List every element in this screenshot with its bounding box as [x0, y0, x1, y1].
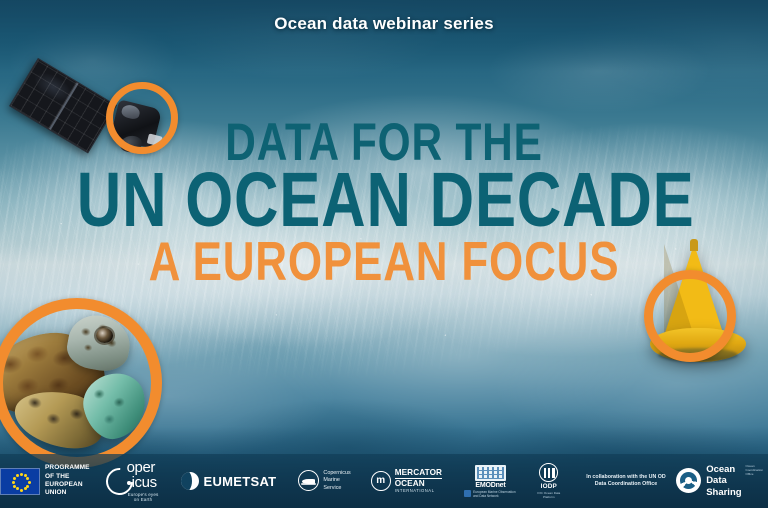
ocean-data-sharing-wordmark: Ocean Data Sharing	[706, 464, 742, 498]
logo-eumetsat: EUMETSAT	[181, 472, 276, 490]
ods-line2: Data Sharing	[706, 475, 742, 497]
eumetsat-globe-icon	[181, 472, 199, 490]
logo-ocean-data-sharing: In collaboration with the UN OD Data Coo…	[581, 464, 768, 498]
marine-service-line2: Marine Service	[323, 477, 350, 492]
eu-label-line2: EUROPEAN UNION	[45, 481, 90, 498]
collaboration-note: In collaboration with the UN OD Data Coo…	[581, 474, 671, 489]
iode-circle-icon	[539, 463, 558, 482]
eu-star-icon	[26, 485, 29, 488]
eu-star-icon	[24, 487, 27, 490]
logo-copernicus-marine-service: Copernicus Marine Service	[298, 470, 350, 492]
eu-label-line1: PROGRAMME OF THE	[45, 464, 90, 481]
title-line-3: A EUROPEAN FOCUS	[77, 236, 691, 288]
logo-mercator-ocean: m MERCATOR OCEAN INTERNATIONAL	[371, 468, 442, 493]
buoy-tip	[690, 239, 698, 251]
eu-star-icon	[20, 473, 23, 476]
series-kicker: Ocean data webinar series	[0, 14, 768, 34]
eu-star-icon	[26, 477, 29, 480]
ocean-data-sharing-text: Ocean Data Sharing Ocean Coordination Of…	[706, 464, 768, 498]
ods-line1: Ocean	[706, 464, 742, 475]
eu-star-icon	[16, 474, 19, 477]
emodnet-badge-icon	[464, 490, 471, 497]
ocean-data-sharing-globe-icon	[676, 468, 701, 493]
highlight-ring-turtle	[0, 298, 162, 468]
mercator-m-icon: m	[371, 471, 391, 491]
emodnet-grid-icon	[475, 465, 506, 481]
eu-star-icon	[28, 481, 31, 484]
highlight-ring-buoy	[644, 270, 736, 362]
ods-office-note: Ocean Coordination Office	[745, 464, 768, 476]
iode-wordmark: IODP	[537, 483, 561, 490]
eu-flag-icon	[0, 468, 40, 495]
emodnet-subtitle-row: European Marine Observation and Data Net…	[464, 490, 517, 498]
title-line-2: UN OCEAN DECADE	[77, 164, 691, 236]
eu-star-icon	[16, 487, 19, 490]
eu-star-icon	[12, 481, 15, 484]
marine-service-fish-icon	[298, 470, 319, 491]
logo-european-union: PROGRAMME OF THE EUROPEAN UNION	[0, 464, 90, 497]
webinar-poster: Ocean data webinar series DATA FOR THE U…	[0, 0, 768, 508]
partner-logo-bar: PROGRAMME OF THE EUROPEAN UNION opericus…	[0, 454, 768, 508]
emodnet-subtitle: European Marine Observation and Data Net…	[473, 490, 517, 498]
mercator-line1: MERCATOR	[395, 468, 442, 479]
marine-service-line1: Copernicus	[323, 470, 350, 477]
iode-subtitle: IOC Ocean Data Platform	[537, 491, 561, 499]
logo-emodnet: EMODnet European Marine Observation and …	[464, 465, 517, 498]
mercator-line3: INTERNATIONAL	[395, 489, 442, 494]
copernicus-name-part-b: icus	[132, 474, 157, 491]
eu-label: PROGRAMME OF THE EUROPEAN UNION	[45, 464, 90, 497]
marine-service-label: Copernicus Marine Service	[323, 470, 350, 492]
emodnet-wordmark: EMODnet	[464, 482, 517, 489]
eu-star-icon	[20, 489, 23, 492]
eumetsat-wordmark: EUMETSAT	[203, 474, 276, 489]
mercator-label: MERCATOR OCEAN INTERNATIONAL	[395, 468, 442, 493]
eu-star-icon	[13, 477, 16, 480]
logo-copernicus: opericus Europe's eyes on Earth	[106, 460, 160, 502]
copernicus-tagline: Europe's eyes on Earth	[127, 492, 160, 502]
eu-star-icon	[13, 485, 16, 488]
logo-iode-odp: IODP IOC Ocean Data Platform	[537, 463, 561, 499]
